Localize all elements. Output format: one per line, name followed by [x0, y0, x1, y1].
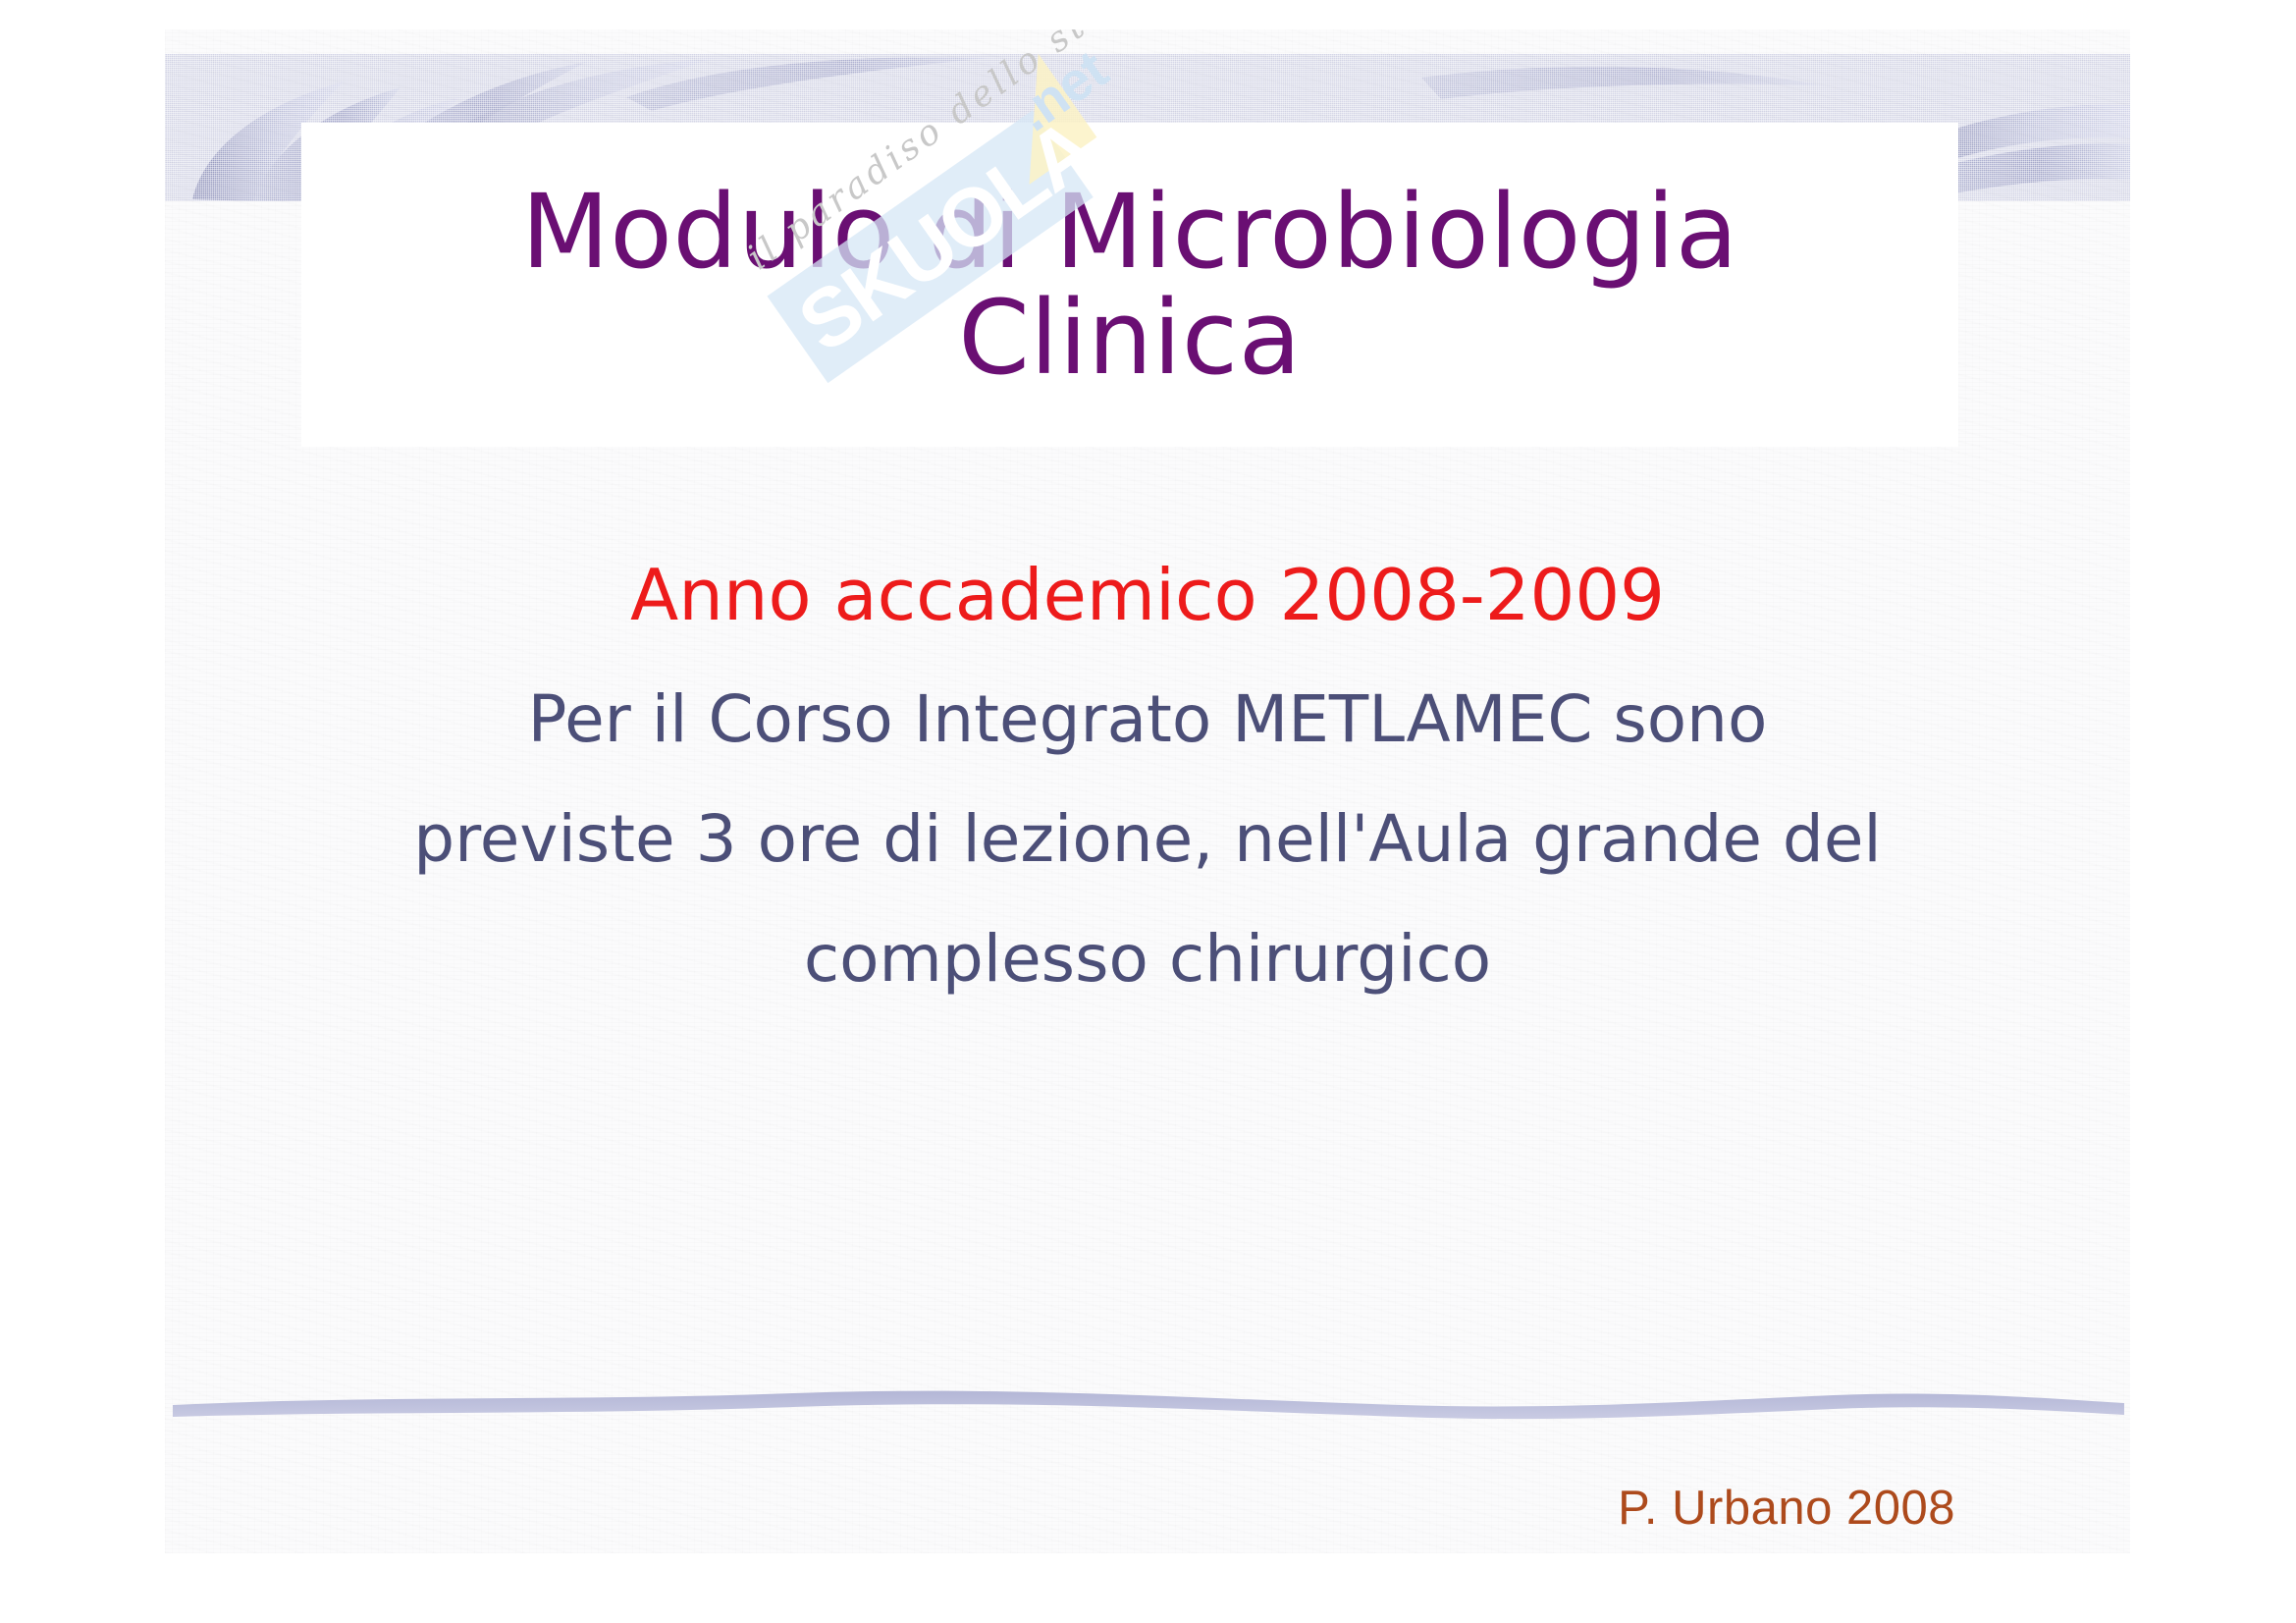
academic-year-line: Anno accademico 2008-2009	[165, 560, 2130, 630]
body-line-1: Per il Corso Integrato METLAMEC sono	[165, 687, 2130, 752]
title-line-2: Clinica	[958, 285, 1302, 391]
slide-body: Anno accademico 2008-2009 Per il Corso I…	[165, 560, 2130, 992]
body-line-3: complesso chirurgico	[165, 927, 2130, 992]
bottom-wavy-rule	[165, 1380, 2130, 1438]
page-title: Modulo di Microbiologia Clinica	[301, 123, 1958, 447]
slide-page: Modulo di Microbiologia Clinica SKUOLA .…	[0, 0, 2296, 1623]
title-line-1: Modulo di Microbiologia	[521, 179, 1738, 285]
footer-credit: P. Urbano 2008	[1618, 1481, 1955, 1536]
body-line-2: previste 3 ore di lezione, nell'Aula gra…	[165, 807, 2130, 872]
presentation-slide: Modulo di Microbiologia Clinica SKUOLA .…	[165, 29, 2130, 1553]
